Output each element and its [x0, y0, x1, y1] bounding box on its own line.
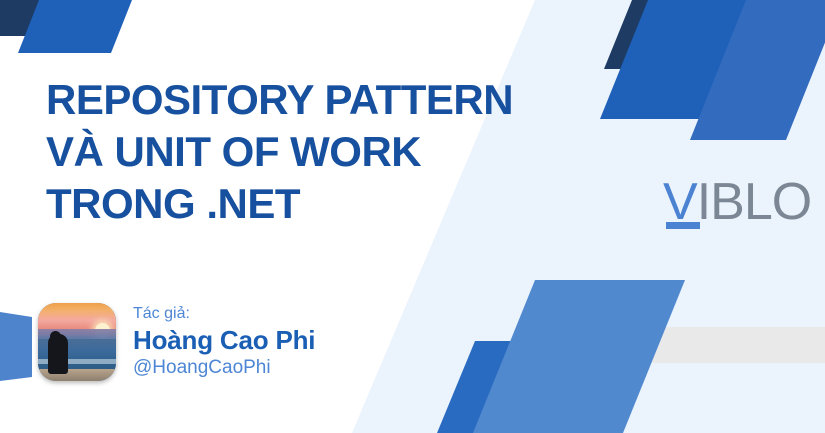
thumbnail-canvas: REPOSITORY PATTERN VÀ UNIT OF WORK TRONG… [0, 0, 825, 433]
author-text-group: Tác giả: Hoàng Cao Phi @HoangCaoPhi [133, 303, 315, 380]
decor-left-edge-parallelogram [0, 311, 32, 383]
viblo-logo-underline [666, 222, 700, 229]
viblo-logo: VIBLO [663, 176, 811, 228]
page-title: REPOSITORY PATTERN VÀ UNIT OF WORK TRONG… [46, 74, 606, 230]
title-line-2: VÀ UNIT OF WORK [46, 126, 606, 178]
author-handle: @HoangCaoPhi [133, 356, 315, 381]
title-line-3: TRONG .NET [46, 178, 606, 230]
author-label: Tác giả: [133, 303, 315, 325]
title-line-1: REPOSITORY PATTERN [46, 74, 606, 126]
viblo-logo-rest-letters: IBLO [697, 173, 812, 231]
author-name: Hoàng Cao Phi [133, 325, 315, 356]
author-block: Tác giả: Hoàng Cao Phi @HoangCaoPhi [38, 303, 315, 381]
decor-bottom-right-gray-band [648, 327, 825, 363]
avatar [38, 303, 116, 381]
